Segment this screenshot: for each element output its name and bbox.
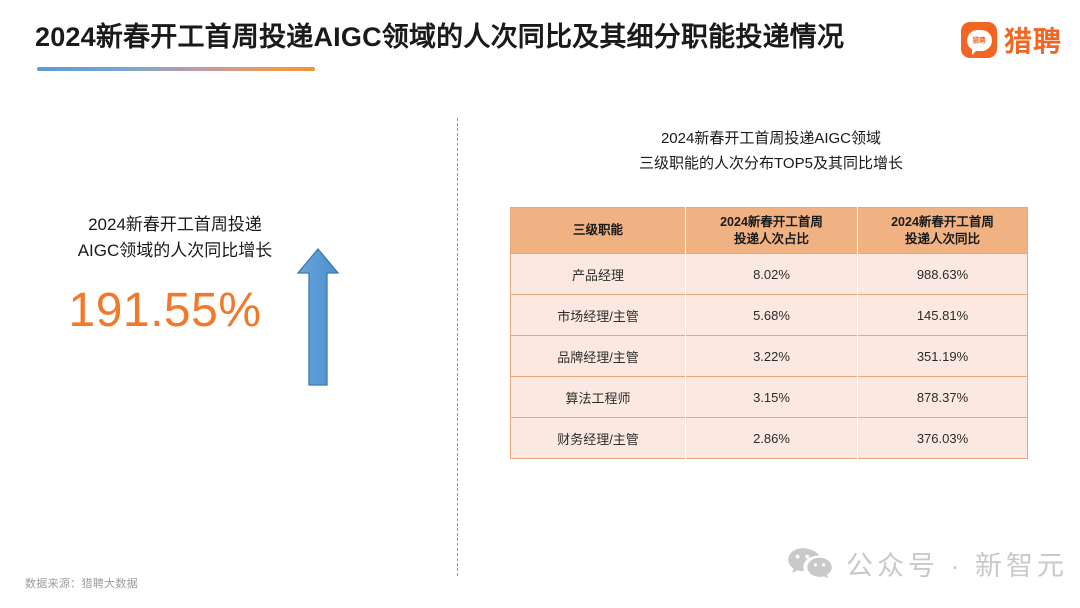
column-header-yoy-line-2: 投递人次同比 [860, 231, 1025, 248]
speech-bubble-icon: 猎聘 [967, 30, 992, 51]
brand-name-label: 猎聘 [1004, 20, 1062, 60]
column-header-share-line-2: 投递人次占比 [688, 231, 855, 248]
cell-yoy: 878.37% [858, 377, 1028, 418]
table-caption: 2024新春开工首周投递AIGC领域 三级职能的人次分布TOP5及其同比增长 [516, 126, 1026, 176]
cell-function-name: 财务经理/主管 [511, 418, 686, 459]
cell-share: 5.68% [686, 295, 858, 336]
page-title: 2024新春开工首周投递AIGC领域的人次同比及其细分职能投递情况 [35, 20, 844, 54]
table-row: 算法工程师 3.15% 878.37% [511, 377, 1028, 418]
cell-share: 8.02% [686, 254, 858, 295]
cell-yoy: 988.63% [858, 254, 1028, 295]
source-note: 数据来源：猎聘大数据 [25, 575, 138, 591]
cell-function-name: 算法工程师 [511, 377, 686, 418]
table-row: 财务经理/主管 2.86% 376.03% [511, 418, 1028, 459]
cell-share: 3.15% [686, 377, 858, 418]
table-row: 产品经理 8.02% 988.63% [511, 254, 1028, 295]
cell-function-name: 市场经理/主管 [511, 295, 686, 336]
cell-yoy: 351.19% [858, 336, 1028, 377]
up-arrow-icon [296, 247, 340, 387]
column-header-yoy-line-1: 2024新春开工首周 [860, 214, 1025, 231]
cell-yoy: 376.03% [858, 418, 1028, 459]
table-caption-line-2: 三级职能的人次分布TOP5及其同比增长 [516, 151, 1026, 176]
column-header-function-line-1: 三级职能 [513, 222, 683, 239]
top5-functions-table: 三级职能 2024新春开工首周 投递人次占比 2024新春开工首周 投递人次同比… [510, 207, 1028, 459]
panel-divider [457, 118, 458, 576]
column-header-share-line-1: 2024新春开工首周 [688, 214, 855, 231]
table-row: 市场经理/主管 5.68% 145.81% [511, 295, 1028, 336]
table-header-row: 三级职能 2024新春开工首周 投递人次占比 2024新春开工首周 投递人次同比 [511, 208, 1028, 254]
watermark-label: 公众号 · 新智元 [846, 544, 1068, 583]
cell-share: 3.22% [686, 336, 858, 377]
cell-function-name: 品牌经理/主管 [511, 336, 686, 377]
cell-yoy: 145.81% [858, 295, 1028, 336]
table-caption-line-1: 2024新春开工首周投递AIGC领域 [516, 126, 1026, 151]
wechat-watermark: 公众号 · 新智元 [787, 544, 1068, 583]
title-underline-rule [37, 67, 315, 71]
liepin-logo-mark-text: 猎聘 [972, 35, 985, 44]
table-row: 品牌经理/主管 3.22% 351.19% [511, 336, 1028, 377]
wechat-icon [787, 547, 833, 581]
column-header-yoy: 2024新春开工首周 投递人次同比 [858, 208, 1028, 254]
liepin-brand-logo: 猎聘 猎聘 [961, 20, 1062, 60]
slide-canvas: 2024新春开工首周投递AIGC领域的人次同比及其细分职能投递情况 猎聘 猎聘 … [0, 0, 1080, 608]
highlight-caption-line-1: 2024新春开工首周投递 [60, 212, 290, 238]
liepin-logo-icon: 猎聘 [961, 22, 997, 58]
column-header-function: 三级职能 [511, 208, 686, 254]
highlight-caption-line-2: AIGC领域的人次同比增长 [60, 238, 290, 264]
cell-function-name: 产品经理 [511, 254, 686, 295]
highlight-value: 191.55% [40, 283, 290, 338]
cell-share: 2.86% [686, 418, 858, 459]
column-header-share: 2024新春开工首周 投递人次占比 [686, 208, 858, 254]
highlight-caption: 2024新春开工首周投递 AIGC领域的人次同比增长 [60, 212, 290, 264]
